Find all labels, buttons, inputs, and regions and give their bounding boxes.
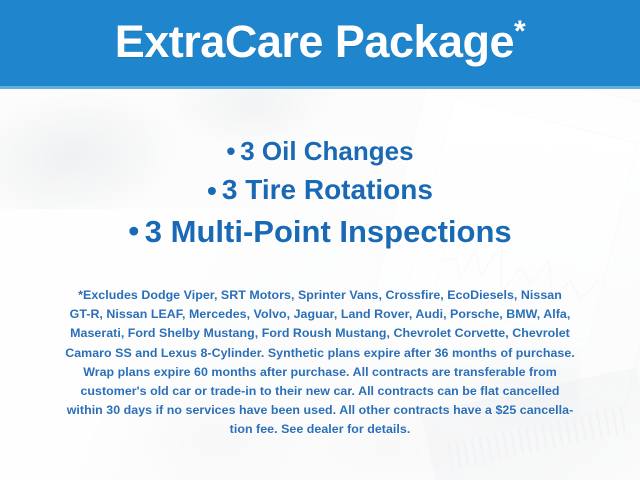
header-banner: ExtraCare Package* — [0, 0, 640, 89]
benefits-list: 3 Oil Changes 3 Tire Rotations 3 Multi-P… — [0, 136, 640, 252]
disclaimer-line: *Excludes Dodge Viper, SRT Motors, Sprin… — [20, 286, 620, 305]
benefit-label: 3 Tire Rotations — [222, 174, 433, 205]
extracare-promo-card: ExtraCare Package* 3 Oil Changes 3 Tire … — [0, 0, 640, 480]
benefit-label: 3 Oil Changes — [240, 136, 413, 166]
disclaimer-line: Wrap plans expire 60 months after purcha… — [20, 363, 620, 382]
disclaimer-line: Camaro SS and Lexus 8-Cylinder. Syntheti… — [20, 344, 620, 363]
disclaimer-line: GT-R, Nissan LEAF, Mercedes, Volvo, Jagu… — [20, 305, 620, 324]
title-asterisk: * — [514, 15, 525, 48]
disclaimer-line: within 30 days if no services have been … — [20, 401, 620, 420]
bullet-dot-icon — [226, 136, 235, 167]
disclaimer-text: *Excludes Dodge Viper, SRT Motors, Sprin… — [20, 286, 620, 440]
benefit-item-multi-point-inspections: 3 Multi-Point Inspections — [0, 214, 640, 252]
disclaimer-line: tion fee. See dealer for details. — [20, 420, 620, 439]
disclaimer-line: Maserati, Ford Shelby Mustang, Ford Rous… — [20, 324, 620, 343]
page-title-text: ExtraCare Package — [115, 16, 514, 67]
benefit-item-tire-rotations: 3 Tire Rotations — [0, 173, 640, 208]
benefit-label: 3 Multi-Point Inspections — [145, 214, 512, 249]
bullet-dot-icon — [207, 174, 217, 207]
bullet-dot-icon — [128, 213, 139, 250]
page-title: ExtraCare Package* — [115, 19, 525, 68]
benefit-item-oil-changes: 3 Oil Changes — [0, 136, 640, 168]
disclaimer-line: customer's old car or trade-in to their … — [20, 382, 620, 401]
